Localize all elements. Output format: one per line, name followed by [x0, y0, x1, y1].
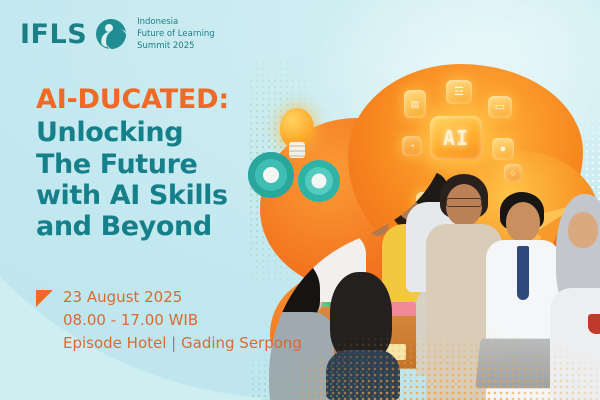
torso	[326, 350, 400, 400]
hair	[330, 272, 392, 360]
event-time: 08.00 - 17.00 WIB	[63, 309, 302, 332]
event-date: 23 August 2025	[63, 286, 302, 309]
head	[568, 212, 598, 248]
headline-line-1: Unlocking	[36, 117, 286, 148]
gear-icon-small	[298, 160, 340, 202]
headline-line-3: with AI Skills	[36, 180, 286, 211]
event-venue: Episode Hotel | Gading Serpong	[63, 332, 302, 355]
page-title: AI-DUCATED: Unlocking The Future with AI…	[36, 84, 286, 243]
headline-line-4: and Beyond	[36, 211, 286, 242]
school-badge	[588, 314, 600, 334]
necktie	[517, 246, 529, 300]
event-poster: ☲ ▤ ▭ ● ○ ◔ ▯ ≡ AI	[0, 0, 600, 400]
photo-students-laptop	[416, 168, 600, 400]
headline-line-2: The Future	[36, 149, 286, 180]
head	[506, 202, 540, 242]
logo-wordmark: IFLS	[20, 21, 87, 48]
logo-tagline: Indonesia Future of Learning Summit 2025	[137, 16, 215, 52]
event-details: 23 August 2025 08.00 - 17.00 WIB Episode…	[36, 286, 302, 354]
person-globe-icon	[96, 19, 126, 49]
book-icon: ▤	[404, 90, 426, 118]
uniform-shirt	[550, 288, 600, 400]
lightbulb-base	[289, 142, 305, 158]
triangle-marker-icon	[36, 290, 53, 307]
headline-accent: AI-DUCATED:	[36, 84, 286, 115]
brand-logo[interactable]: IFLS Indonesia Future of Learning Summit…	[20, 16, 215, 52]
eyeglasses-icon	[446, 198, 482, 207]
desk-lamp-icon: ◔	[402, 136, 422, 156]
